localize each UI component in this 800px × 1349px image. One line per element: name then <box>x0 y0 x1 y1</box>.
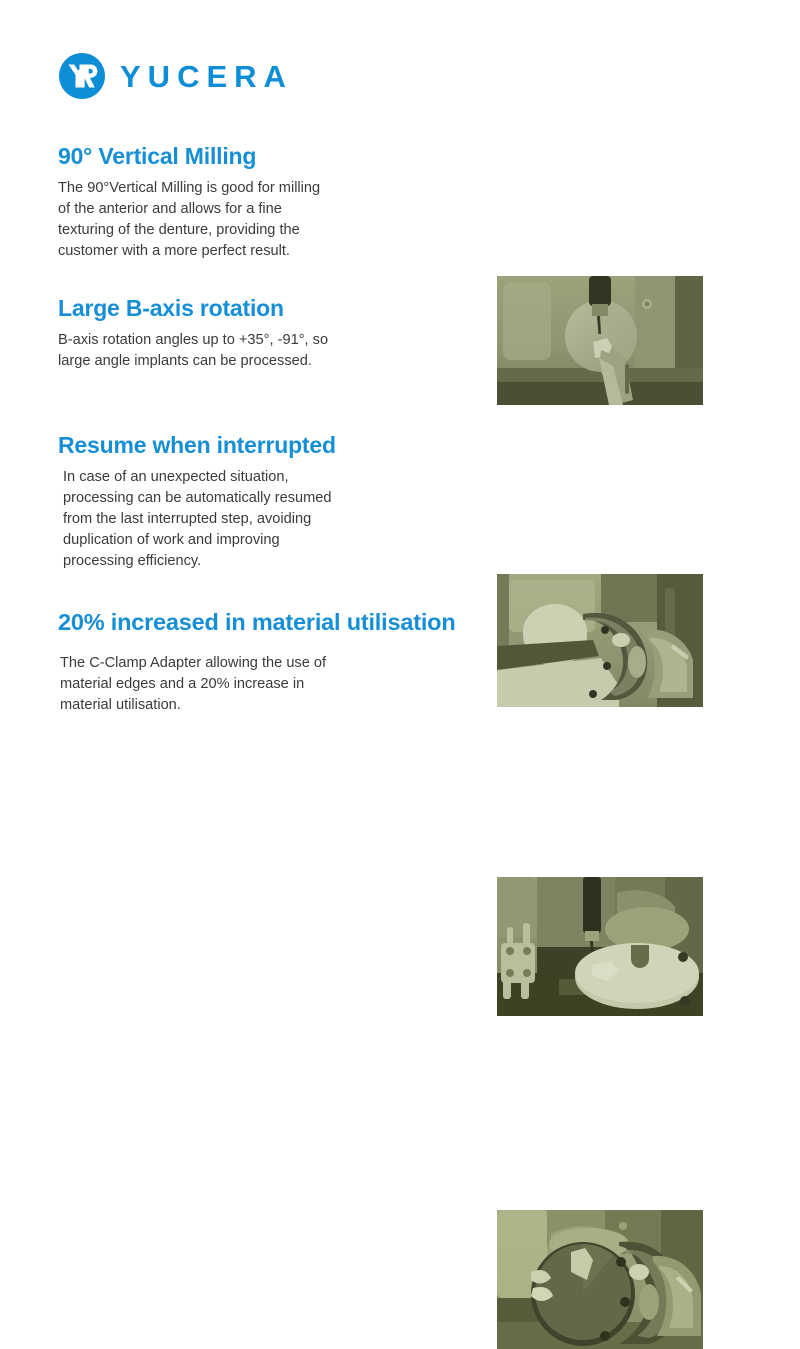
product-feature-page: YUCERA 90° Vertical Milling The 90°Verti… <box>0 0 800 800</box>
feature-text-1: 90° Vertical Milling The 90°Vertical Mil… <box>58 143 488 262</box>
yucera-logo-icon <box>58 52 106 100</box>
feature-text-3: Resume when interrupted In case of an un… <box>58 432 488 572</box>
brand-logo: YUCERA <box>58 52 293 100</box>
brand-wordmark: YUCERA <box>120 61 293 92</box>
feature-photo-2 <box>497 574 703 707</box>
feature-title-1: 90° Vertical Milling <box>58 143 488 169</box>
feature-text-4: 20% increased in material utilisation Th… <box>58 609 508 716</box>
feature-body-1: The 90°Vertical Milling is good for mill… <box>58 178 488 261</box>
feature-photo-3 <box>497 877 703 1016</box>
feature-body-2: B-axis rotation angles up to +35°, -91°,… <box>58 330 488 372</box>
feature-title-2: Large B-axis rotation <box>58 295 488 321</box>
feature-text-2: Large B-axis rotation B-axis rotation an… <box>58 295 488 372</box>
feature-title-3: Resume when interrupted <box>58 432 488 458</box>
feature-body-4: The C-Clamp Adapter allowing the use of … <box>58 653 508 716</box>
feature-title-4: 20% increased in material utilisation <box>58 609 508 636</box>
feature-photo-1 <box>497 276 703 405</box>
feature-photo-4 <box>497 1210 703 1349</box>
feature-body-3: In case of an unexpected situation, proc… <box>58 467 488 571</box>
